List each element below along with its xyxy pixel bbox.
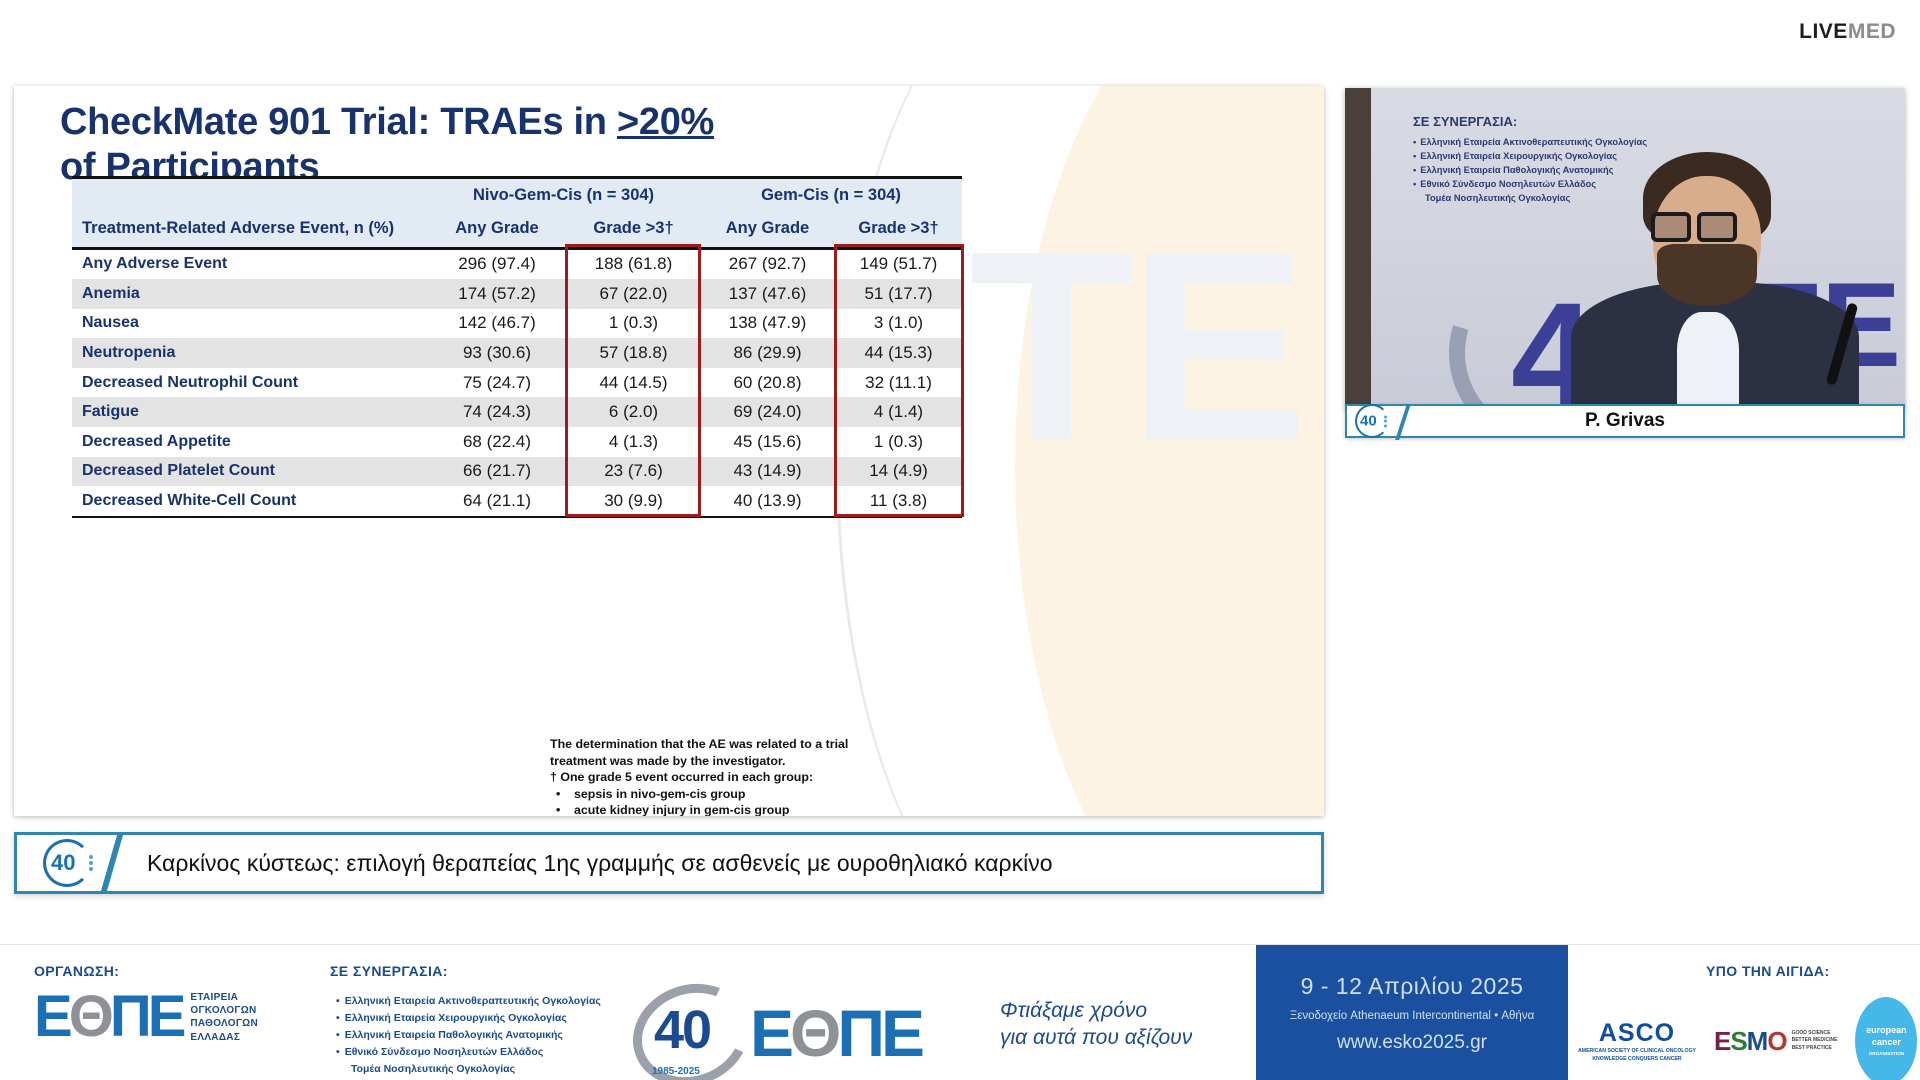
list-item: Εθνικό Σύνδεσμο Νοσηλευτών Ελλάδος xyxy=(336,1044,626,1061)
bullet-dot-icon: • xyxy=(556,786,564,803)
bullet-dot-icon: • xyxy=(556,802,564,816)
table-head: Nivo-Gem-Cis (n = 304) Gem-Cis (n = 304)… xyxy=(72,179,962,247)
cell-event: Anemia xyxy=(72,279,427,309)
event-dates: 9 - 12 Απριλίου 2025 xyxy=(1301,973,1524,1000)
table-subheader-row: Treatment-Related Adverse Event, n (%) A… xyxy=(72,212,962,247)
cell-gem-grade3: 1 (0.3) xyxy=(835,427,962,457)
cell-nivo-grade3: 6 (2.0) xyxy=(567,397,700,427)
presentation-viewer: LIVEMED TE CheckMate 901 Trial: TRAEs in… xyxy=(0,0,1920,1080)
anniversary-logo: 40 1985-2025 EΘΠΕ xyxy=(630,979,1000,1080)
cell-nivo-any: 93 (30.6) xyxy=(427,338,567,368)
table-row: Fatigue74 (24.3)6 (2.0)69 (24.0)4 (1.4) xyxy=(72,397,962,427)
eco-tagline: ORGANISATION xyxy=(1869,1051,1904,1057)
cell-gem-grade3: 51 (17.7) xyxy=(835,279,962,309)
anniv-letter-e: E xyxy=(750,996,790,1070)
cell-event: Decreased Platelet Count xyxy=(72,457,427,487)
asco-tagline: AMERICAN SOCIETY OF CLINICAL ONCOLOGYKNO… xyxy=(1578,1048,1696,1063)
badge-number: 40 xyxy=(1360,413,1377,430)
cell-gem-any: 40 (13.9) xyxy=(700,486,835,516)
esmo-letter-s: S xyxy=(1730,1026,1746,1056)
footnote-bullet-2-text: acute kidney injury in gem-cis group xyxy=(574,802,790,816)
footnote-bullet-1: • sepsis in nivo-gem-cis group xyxy=(550,786,970,803)
video-left-edge xyxy=(1345,88,1371,408)
esko-badge: 40 xyxy=(1347,406,1405,436)
cell-gem-any: 69 (24.0) xyxy=(700,397,835,427)
sponsor-footer: ΟΡΓΑΝΩΣΗ: ΣΕ ΣΥΝΕΡΓΑΣΙΑ: ΥΠΟ ΤΗΝ ΑΙΓΙΔΑ:… xyxy=(0,944,1920,1080)
livemed-live: LIVE xyxy=(1799,20,1848,43)
livemed-logo: LIVEMED xyxy=(1799,20,1896,44)
footnote-bullet-2: • acute kidney injury in gem-cis group xyxy=(550,802,970,816)
cell-gem-grade3: 3 (1.0) xyxy=(835,309,962,339)
cell-gem-any: 45 (15.6) xyxy=(700,427,835,457)
footnote-block: The determination that the AE was relate… xyxy=(550,736,970,816)
cell-gem-any: 267 (92.7) xyxy=(700,250,835,280)
cell-gem-grade3: 149 (51.7) xyxy=(835,250,962,280)
cell-event: Decreased Neutrophil Count xyxy=(72,368,427,398)
speaker-shirt xyxy=(1677,312,1739,408)
session-caption-bar: 40 Καρκίνος κύστεως: επιλογή θεραπείας 1… xyxy=(14,832,1324,894)
esmo-logo: ESMO GOOD SCIENCEBETTER MEDICINEBEST PRA… xyxy=(1714,1026,1837,1057)
table-bottom-rule xyxy=(72,516,962,519)
cell-gem-any: 43 (14.9) xyxy=(700,457,835,487)
traes-table-wrapper: Nivo-Gem-Cis (n = 304) Gem-Cis (n = 304)… xyxy=(72,176,962,518)
slide-title-part1: CheckMate 901 Trial: TRAEs in xyxy=(60,101,617,143)
session-title: Καρκίνος κύστεως: επιλογή θεραπείας 1ης … xyxy=(121,850,1321,877)
cell-event: Decreased White-Cell Count xyxy=(72,486,427,516)
speaker-figure xyxy=(1565,148,1865,408)
col-header-gem-any: Any Grade xyxy=(700,212,835,247)
cell-nivo-grade3: 188 (61.8) xyxy=(567,250,700,280)
table-row: Anemia174 (57.2)67 (22.0)137 (47.6)51 (1… xyxy=(72,279,962,309)
event-website[interactable]: www.esko2025.gr xyxy=(1337,1032,1487,1054)
list-item: Τομέα Νοσηλευτικής Ογκολογίας xyxy=(336,1061,626,1078)
caption-badge-slash-icon xyxy=(100,832,124,894)
col-header-event: Treatment-Related Adverse Event, n (%) xyxy=(72,212,427,247)
group-header-blank xyxy=(72,179,427,212)
table-group-header-row: Nivo-Gem-Cis (n = 304) Gem-Cis (n = 304) xyxy=(72,179,962,212)
footer-cooperation-list: Ελληνική Εταιρεία Ακτινοθεραπευτικής Ογκ… xyxy=(336,993,626,1078)
eope-logo: EΘΠΕ ΕΤΑΙΡΕΙΑΟΓΚΟΛΟΓΩΝΠΑΘΟΛΟΓΩΝΕΛΛΑΔΑΣ xyxy=(34,991,258,1044)
slide-title-threshold: >20% xyxy=(617,101,714,143)
speaker-video[interactable]: ΣΕ ΣΥΝΕΡΓΑΣΙΑ: Ελληνική Εταιρεία Ακτινοθ… xyxy=(1345,88,1905,408)
traes-table-body: Any Adverse Event296 (97.4)188 (61.8)267… xyxy=(72,250,962,516)
cell-gem-grade3: 4 (1.4) xyxy=(835,397,962,427)
table-row: Nausea142 (46.7)1 (0.3)138 (47.9)3 (1.0) xyxy=(72,309,962,339)
cell-nivo-grade3: 57 (18.8) xyxy=(567,338,700,368)
eope-letters-pe: ΠΕ xyxy=(110,984,183,1049)
table-row: Decreased Neutrophil Count75 (24.7)44 (1… xyxy=(72,368,962,398)
speaker-name: P. Grivas xyxy=(1405,410,1845,432)
cell-nivo-any: 142 (46.7) xyxy=(427,309,567,339)
european-cancer-organisation-logo: europeancancer ORGANISATION xyxy=(1855,997,1917,1080)
eco-name: europeancancer xyxy=(1866,1025,1907,1048)
cell-event: Neutropenia xyxy=(72,338,427,368)
table-row: Decreased Platelet Count66 (21.7)23 (7.6… xyxy=(72,457,962,487)
footnote-line2: treatment was made by the investigator. xyxy=(550,753,970,770)
cell-nivo-grade3: 44 (14.5) xyxy=(567,368,700,398)
footer-label-organisation: ΟΡΓΑΝΩΣΗ: xyxy=(34,963,119,979)
speaker-beard xyxy=(1657,244,1757,306)
cell-nivo-any: 66 (21.7) xyxy=(427,457,567,487)
eope-subtitle: ΕΤΑΙΡΕΙΑΟΓΚΟΛΟΓΩΝΠΑΘΟΛΟΓΩΝΕΛΛΑΔΑΣ xyxy=(190,991,258,1044)
col-header-nivo-any: Any Grade xyxy=(427,212,567,247)
esmo-wordmark: ESMO xyxy=(1714,1026,1787,1057)
speaker-glasses-left xyxy=(1651,212,1691,242)
table-body: Any Adverse Event296 (97.4)188 (61.8)267… xyxy=(72,250,962,516)
cell-nivo-grade3: 67 (22.0) xyxy=(567,279,700,309)
footnote-line1: The determination that the AE was relate… xyxy=(550,736,970,753)
cell-gem-any: 137 (47.6) xyxy=(700,279,835,309)
cell-nivo-any: 296 (97.4) xyxy=(427,250,567,280)
table-row: Decreased Appetite68 (22.4)4 (1.3)45 (15… xyxy=(72,427,962,457)
livemed-med: MED xyxy=(1848,20,1896,43)
cell-gem-grade3: 44 (15.3) xyxy=(835,338,962,368)
footer-label-cooperation: ΣΕ ΣΥΝΕΡΓΑΣΙΑ: xyxy=(330,963,448,979)
list-item: Ελληνική Εταιρεία Παθολογικής Ανατομικής xyxy=(336,1027,626,1044)
footer-slogan: Φτιάξαμε χρόνο για αυτά που αξίζουν xyxy=(1000,997,1192,1052)
cell-nivo-grade3: 4 (1.3) xyxy=(567,427,700,457)
cell-gem-grade3: 14 (4.9) xyxy=(835,457,962,487)
col-header-gem-g3: Grade >3† xyxy=(835,212,962,247)
anniversary-number: 40 xyxy=(654,999,710,1061)
cell-gem-any: 86 (29.9) xyxy=(700,338,835,368)
esmo-tagline: GOOD SCIENCEBETTER MEDICINEBEST PRACTICE xyxy=(1792,1030,1838,1053)
cell-gem-grade3: 11 (3.8) xyxy=(835,486,962,516)
cell-nivo-grade3: 30 (9.9) xyxy=(567,486,700,516)
anniversary-years: 1985-2025 xyxy=(652,1066,700,1077)
cell-nivo-grade3: 23 (7.6) xyxy=(567,457,700,487)
cell-nivo-any: 68 (22.4) xyxy=(427,427,567,457)
esmo-letter-e: E xyxy=(1714,1026,1730,1056)
table-row: Neutropenia93 (30.6)57 (18.8)86 (29.9)44… xyxy=(72,338,962,368)
footer-label-aegis: ΥΠΟ ΤΗΝ ΑΙΓΙΔΑ: xyxy=(1706,963,1830,979)
caption-badge: 40 xyxy=(17,835,121,891)
slide-panel: TE CheckMate 901 Trial: TRAEs in >20% of… xyxy=(14,86,1324,816)
footnote-bullet-1-text: sepsis in nivo-gem-cis group xyxy=(574,786,745,803)
cell-nivo-any: 64 (21.1) xyxy=(427,486,567,516)
slogan-line-1: Φτιάξαμε χρόνο xyxy=(1000,997,1192,1024)
list-item: Ελληνική Εταιρεία Χειρουργικής Ογκολογία… xyxy=(336,1010,626,1027)
eope-letter-theta: Θ xyxy=(69,984,110,1049)
list-item: Ελληνική Εταιρεία Ακτινοθεραπευτικής Ογκ… xyxy=(336,993,626,1010)
eope-letter-e: E xyxy=(34,984,69,1049)
cell-event: Fatigue xyxy=(72,397,427,427)
speaker-glasses-right xyxy=(1697,212,1737,242)
table-row: Decreased White-Cell Count64 (21.1)30 (9… xyxy=(72,486,962,516)
speaker-name-bar: 40 P. Grivas xyxy=(1345,404,1905,438)
event-venue: Ξενοδοχείο Athenaeum Intercontinental • … xyxy=(1290,1010,1534,1022)
esmo-letter-o: O xyxy=(1767,1026,1786,1056)
badge-dots-icon xyxy=(1384,414,1387,429)
group-header-gem: Gem-Cis (n = 304) xyxy=(700,179,962,212)
cell-nivo-any: 75 (24.7) xyxy=(427,368,567,398)
cell-event: Any Adverse Event xyxy=(72,250,427,280)
cell-nivo-any: 174 (57.2) xyxy=(427,279,567,309)
backdrop-heading: ΣΕ ΣΥΝΕΡΓΑΣΙΑ: xyxy=(1413,114,1663,129)
cell-event: Nausea xyxy=(72,309,427,339)
cell-event: Decreased Appetite xyxy=(72,427,427,457)
slide-watermark: TE xyxy=(969,236,1302,457)
cell-gem-any: 138 (47.9) xyxy=(700,309,835,339)
asco-name: ASCO xyxy=(1578,1019,1696,1048)
anniv-letters-pe: ΠΕ xyxy=(837,996,921,1070)
aegis-logos: ASCO AMERICAN SOCIETY OF CLINICAL ONCOLO… xyxy=(1578,997,1917,1080)
cell-gem-grade3: 32 (11.1) xyxy=(835,368,962,398)
anniversary-wordmark: EΘΠΕ xyxy=(750,995,921,1071)
esmo-letter-m: M xyxy=(1747,1026,1768,1056)
slogan-line-2: για αυτά που αξίζουν xyxy=(1000,1024,1192,1051)
cell-nivo-any: 74 (24.3) xyxy=(427,397,567,427)
caption-badge-dots-icon xyxy=(89,853,93,873)
cell-gem-any: 60 (20.8) xyxy=(700,368,835,398)
event-date-box: 9 - 12 Απριλίου 2025 Ξενοδοχείο Athenaeu… xyxy=(1256,945,1568,1080)
footnote-line3: † One grade 5 event occurred in each gro… xyxy=(550,769,970,786)
asco-logo: ASCO AMERICAN SOCIETY OF CLINICAL ONCOLO… xyxy=(1578,1019,1696,1063)
table-row: Any Adverse Event296 (97.4)188 (61.8)267… xyxy=(72,250,962,280)
col-header-nivo-g3: Grade >3† xyxy=(567,212,700,247)
traes-table: Nivo-Gem-Cis (n = 304) Gem-Cis (n = 304)… xyxy=(72,179,962,247)
anniv-letter-theta: Θ xyxy=(790,996,837,1070)
conference-backdrop: ΣΕ ΣΥΝΕΡΓΑΣΙΑ: Ελληνική Εταιρεία Ακτινοθ… xyxy=(1371,88,1905,408)
badge-40-icon: 40 xyxy=(1347,406,1401,436)
eope-wordmark: EΘΠΕ xyxy=(34,991,182,1043)
group-header-nivo: Nivo-Gem-Cis (n = 304) xyxy=(427,179,700,212)
cell-nivo-grade3: 1 (0.3) xyxy=(567,309,700,339)
caption-badge-number: 40 xyxy=(51,850,75,876)
